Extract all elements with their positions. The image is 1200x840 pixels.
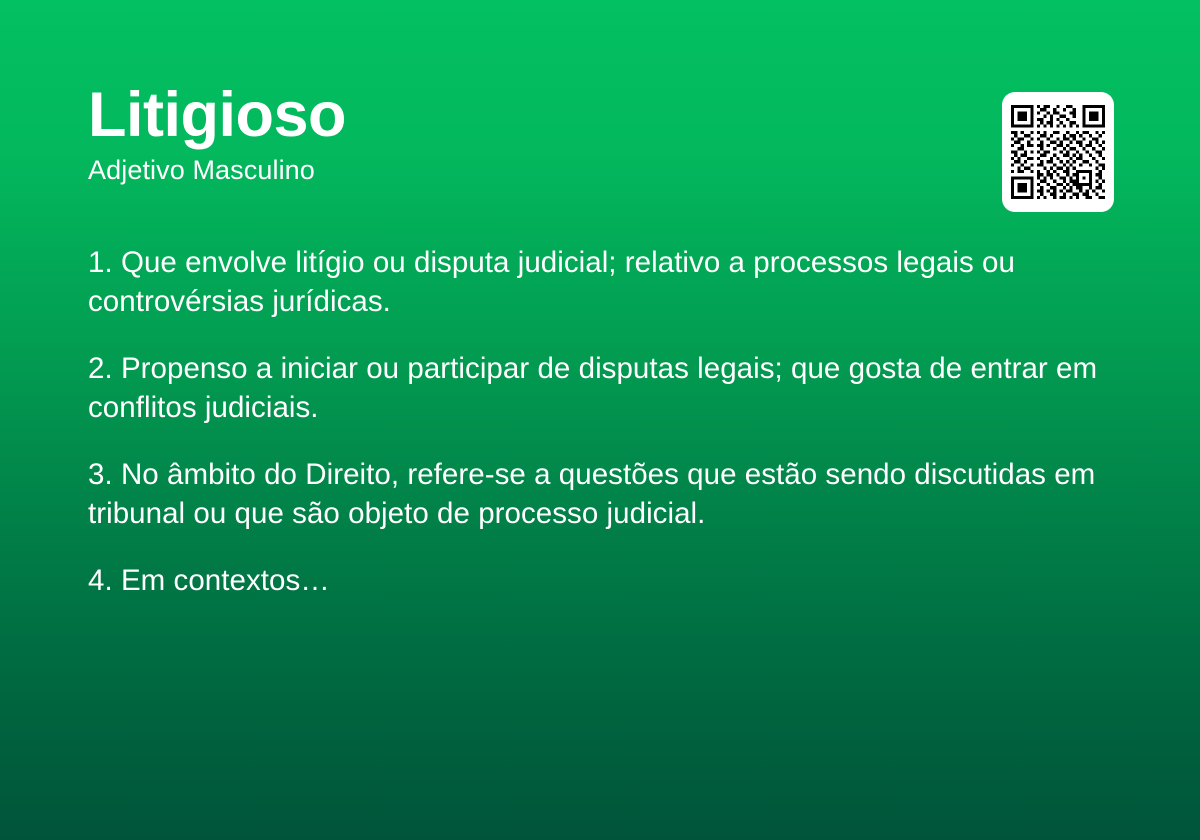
definition-card: Litigioso Adjetivo Masculino xyxy=(0,0,1200,840)
card-footer: e escreva.ai xyxy=(0,700,1200,840)
definition-item: 1. Que envolve litígio ou disputa judici… xyxy=(88,243,1098,321)
definition-item: 3. No âmbito do Direito, refere-se a que… xyxy=(88,455,1098,533)
qr-code[interactable] xyxy=(1002,92,1114,212)
qr-code-icon xyxy=(1011,105,1105,199)
page-title: Litigioso xyxy=(88,84,1112,147)
card-header: Litigioso Adjetivo Masculino xyxy=(88,84,1112,186)
word-class-label: Adjetivo Masculino xyxy=(88,156,1112,186)
definition-item: 4. Em contextos… xyxy=(88,561,1098,600)
definition-list: 1. Que envolve litígio ou disputa judici… xyxy=(88,243,1098,600)
definition-item: 2. Propenso a iniciar ou participar de d… xyxy=(88,349,1098,427)
